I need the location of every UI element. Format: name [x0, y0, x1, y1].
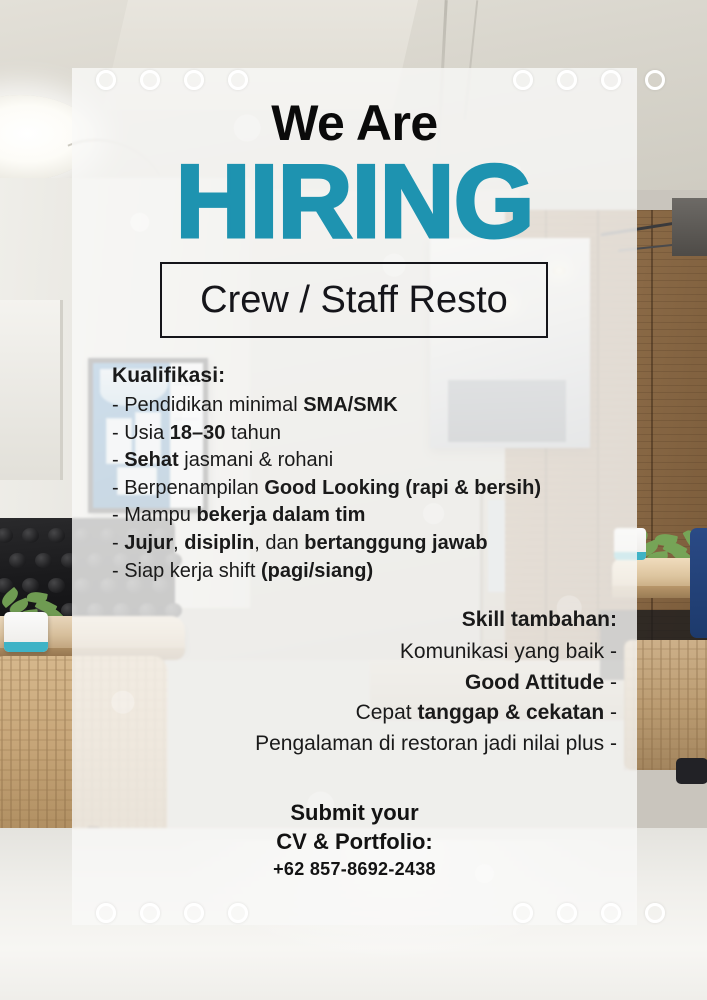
submit-line-2: CV & Portfolio:	[72, 827, 637, 856]
qualifications-list: - Pendidikan minimal SMA/SMK- Usia 18–30…	[112, 392, 612, 585]
position-title-box: Crew / Staff Resto	[160, 262, 548, 338]
left-wall-trim	[0, 300, 63, 480]
skills-list: Komunikasi yang baik -Good Attitude -Cep…	[97, 637, 617, 760]
booth-tuft	[0, 528, 13, 543]
punch-hole-icon	[645, 903, 665, 923]
submit-section: Submit your CV & Portfolio: +62 857-8692…	[72, 798, 637, 880]
qualification-item: - Jujur, disiplin, dan bertanggung jawab	[112, 530, 612, 558]
qualification-item: - Usia 18–30 tahun	[112, 420, 612, 448]
qualifications-section: Kualifikasi: - Pendidikan minimal SMA/SM…	[112, 364, 612, 585]
skills-section: Skill tambahan: Komunikasi yang baik -Go…	[97, 608, 617, 760]
skill-item: Cepat tanggap & cekatan -	[97, 698, 617, 729]
qualification-item: - Sehat jasmani & rohani	[112, 447, 612, 475]
punch-hole-icon	[645, 70, 665, 90]
skill-item: Komunikasi yang baik -	[97, 637, 617, 668]
headline-small: We Are	[72, 98, 637, 148]
position-title: Crew / Staff Resto	[200, 279, 508, 322]
headline-large: HIRING	[72, 150, 637, 254]
chair-wheel	[676, 758, 707, 784]
tissue-box-left-band	[4, 642, 48, 652]
qualifications-title: Kualifikasi:	[112, 364, 612, 388]
qualification-item: - Berpenampilan Good Looking (rapi & ber…	[112, 475, 612, 503]
poster-content: We Are HIRING Crew / Staff Resto Kualifi…	[72, 68, 637, 925]
skill-item: Good Attitude -	[97, 668, 617, 699]
qualification-item: - Siap kerja shift (pagi/siang)	[112, 558, 612, 586]
booth-tuft	[48, 528, 65, 543]
wall-box	[672, 198, 707, 256]
qualification-item: - Mampu bekerja dalam tim	[112, 502, 612, 530]
booth-tuft	[9, 553, 26, 568]
blue-chair	[690, 528, 707, 638]
skills-title: Skill tambahan:	[97, 608, 617, 632]
booth-tuft	[35, 553, 52, 568]
skill-item: Pengalaman di restoran jadi nilai plus -	[97, 729, 617, 760]
submit-line-1: Submit your	[72, 798, 637, 827]
booth-tuft	[22, 528, 39, 543]
contact-phone[interactable]: +62 857-8692-2438	[72, 859, 637, 880]
qualification-item: - Pendidikan minimal SMA/SMK	[112, 392, 612, 420]
hiring-poster: We Are HIRING Crew / Staff Resto Kualifi…	[0, 0, 707, 1000]
